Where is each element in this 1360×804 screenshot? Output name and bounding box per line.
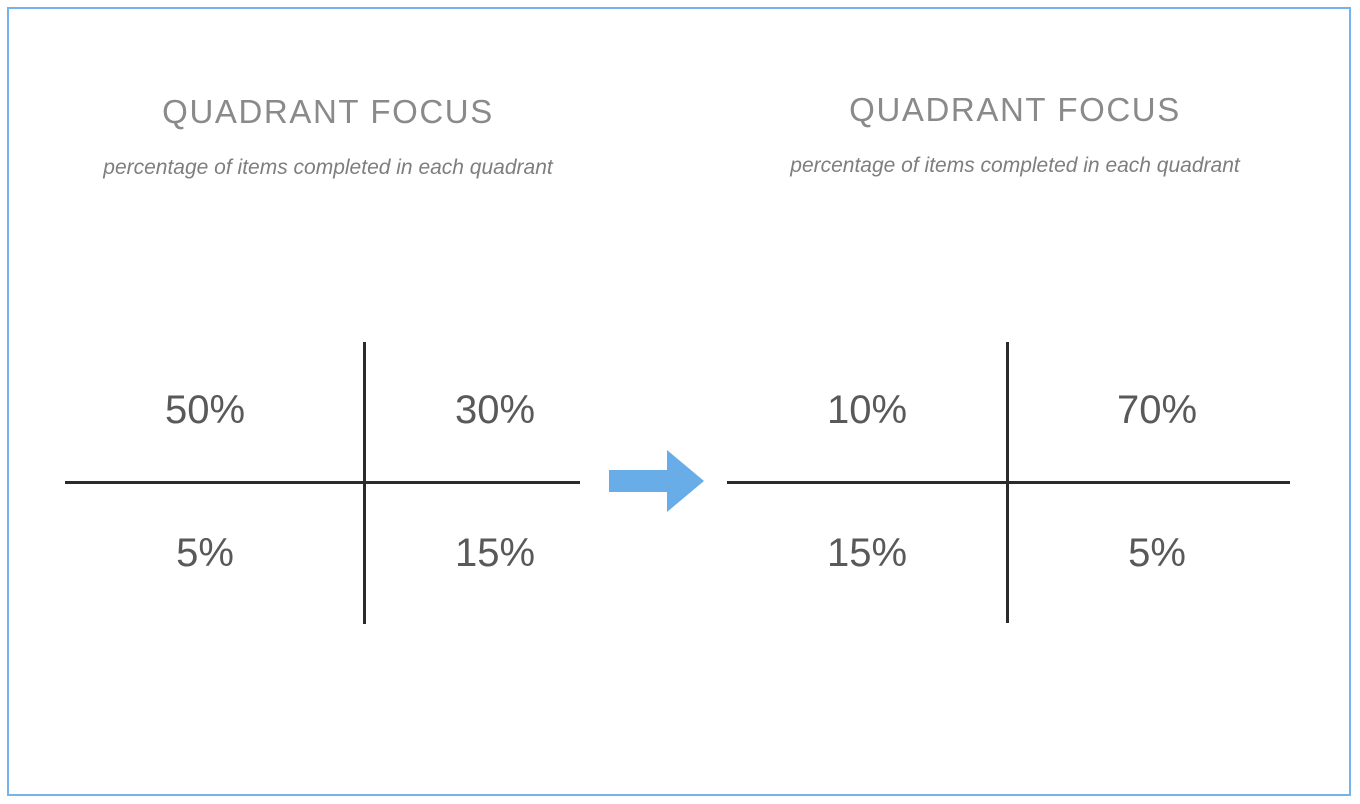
quadrant-horizontal-axis-before (65, 481, 580, 484)
page-subtitle-after: percentage of items completed in each qu… (700, 153, 1330, 180)
quadrant-value-bottom-right-before: 15% (415, 533, 575, 573)
quadrant-value-top-right-before: 30% (415, 390, 575, 430)
arrow-right-icon (609, 448, 705, 514)
quadrant-value-bottom-left-before: 5% (125, 533, 285, 573)
quadrant-value-top-right-after: 70% (1077, 390, 1237, 430)
quadrant-value-top-left-after: 10% (787, 390, 947, 430)
arrow-right-glyph (609, 448, 705, 514)
quadrant-vertical-axis-after (1006, 342, 1009, 623)
quadrant-grid-before: 50% 30% 5% 15% (65, 342, 580, 624)
quadrant-grid-after: 10% 70% 15% 5% (727, 342, 1290, 623)
page-title-after: QUADRANT FOCUS (700, 92, 1330, 128)
quadrant-vertical-axis-before (363, 342, 366, 624)
slide-canvas: QUADRANT FOCUS percentage of items compl… (0, 0, 1360, 804)
quadrant-value-bottom-left-after: 15% (787, 533, 947, 573)
quadrant-panel-before: QUADRANT FOCUS percentage of items compl… (18, 0, 638, 804)
page-title-before: QUADRANT FOCUS (18, 94, 638, 130)
page-subtitle-before: percentage of items completed in each qu… (18, 155, 638, 182)
quadrant-value-top-left-before: 50% (125, 390, 285, 430)
quadrant-value-bottom-right-after: 5% (1077, 533, 1237, 573)
quadrant-panel-after: QUADRANT FOCUS percentage of items compl… (700, 0, 1330, 804)
